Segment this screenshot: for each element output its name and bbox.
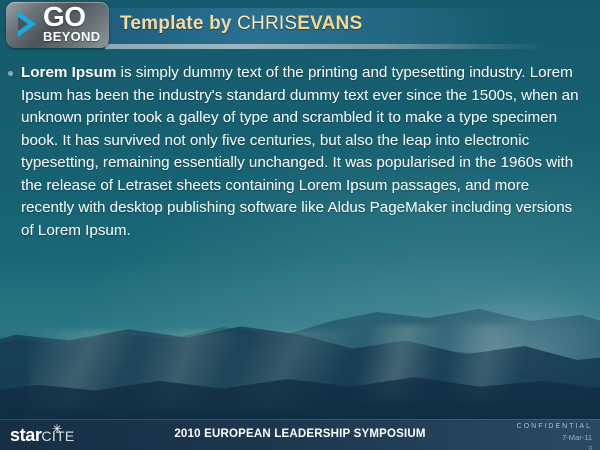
chevron-right-icon [18, 11, 36, 37]
page-title-firstname: CHRIS [237, 13, 297, 34]
page-title-prefix: Template by [120, 13, 237, 34]
page-title-lastname: EVANS [297, 13, 362, 34]
title-underline [105, 44, 545, 49]
body-lead-text: Lorem Ipsum [21, 64, 116, 81]
bullet-dot-icon [8, 71, 13, 76]
footer-event-title: 2010 EUROPEAN LEADERSHIP SYMPOSIUM [0, 428, 600, 440]
confidential-label: CONFIDENTIAL [517, 422, 592, 431]
presentation-slide: Template by CHRISEVANS GO BEYOND Lorem I… [0, 0, 600, 450]
go-beyond-logo: GO BEYOND [6, 2, 109, 48]
body-rest-text: is simply dummy text of the printing and… [21, 64, 579, 239]
page-number: 3 [517, 444, 592, 450]
slide-content: Lorem Ipsum is simply dummy text of the … [8, 62, 586, 242]
body-paragraph: Lorem Ipsum is simply dummy text of the … [21, 62, 586, 242]
page-title: Template by CHRISEVANS [120, 13, 362, 35]
slide-footer: starCITE ✳ 2010 EUROPEAN LEADERSHIP SYMP… [0, 419, 600, 450]
footer-date: 7-Mar-11 [517, 433, 592, 442]
logo-line-go: GO [43, 3, 86, 31]
footer-meta: CONFIDENTIAL 7-Mar-11 3 [517, 422, 592, 450]
logo-line-beyond: BEYOND [43, 30, 100, 44]
